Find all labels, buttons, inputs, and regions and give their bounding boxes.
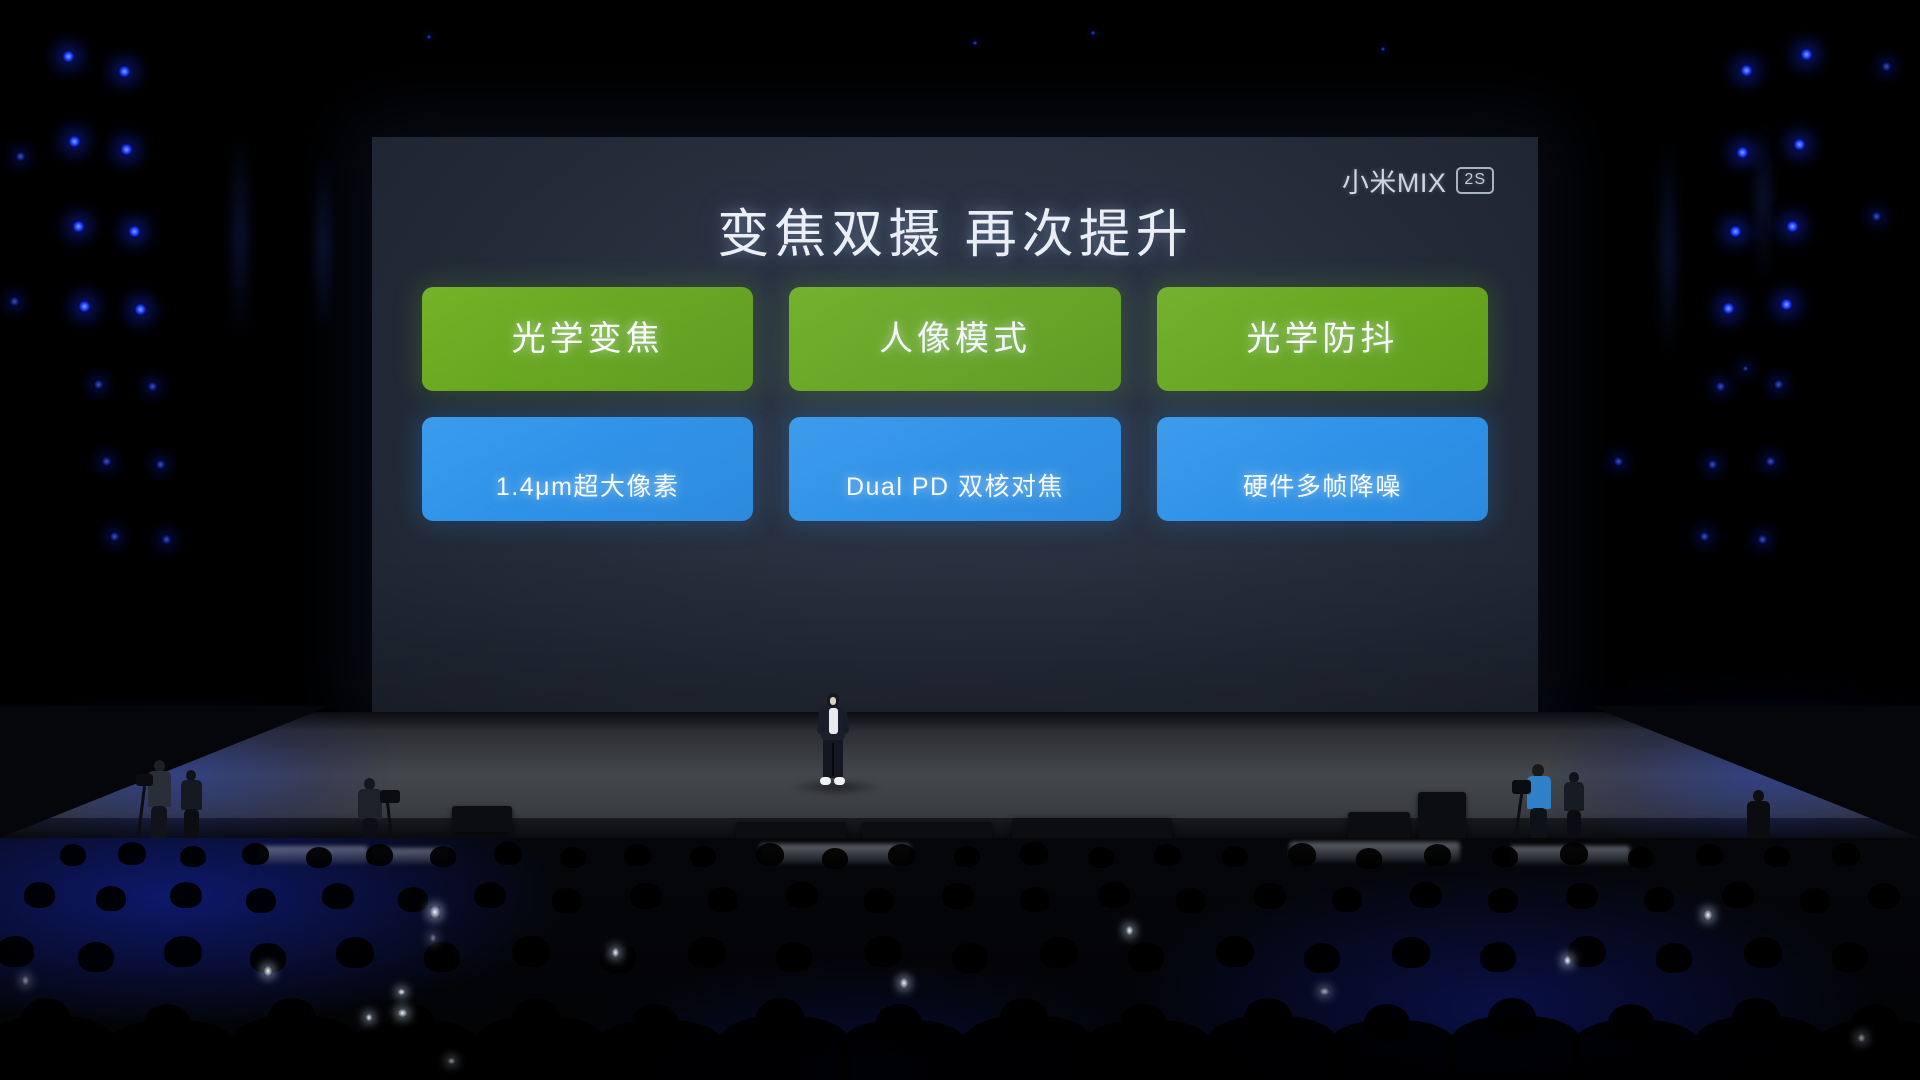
audience-head — [1176, 888, 1206, 913]
audience-head — [560, 847, 586, 868]
audience-head — [78, 942, 114, 972]
audience-head — [630, 883, 662, 909]
stage-led-light — [134, 303, 147, 316]
audience-head — [180, 846, 206, 867]
audience-head — [1480, 942, 1516, 972]
audience-head — [306, 847, 332, 868]
crew-camera-operator-left-2 — [348, 778, 404, 840]
audience-head — [942, 883, 974, 909]
audience-head — [1656, 943, 1692, 973]
audience-head — [1488, 888, 1518, 913]
feature-card-large-pixel: 1.4μm超大像素 — [422, 417, 753, 521]
stage-monitor-wedge — [452, 806, 512, 832]
audience-head — [170, 882, 202, 908]
audience-head — [822, 848, 848, 869]
stage-led-light — [68, 135, 81, 148]
audience-head — [494, 842, 522, 865]
feature-card-optical-zoom: 光学变焦 — [422, 287, 753, 391]
feature-card-label: 光学变焦 — [512, 311, 664, 360]
audience-head — [1020, 842, 1048, 865]
audience-head — [708, 887, 738, 912]
stage-led-light — [1740, 64, 1753, 77]
stage-led-light — [1793, 138, 1806, 151]
stage-led-light — [1780, 298, 1793, 311]
audience-head — [1128, 942, 1164, 972]
audience-head — [144, 1004, 190, 1042]
audience-head — [1410, 882, 1442, 908]
audience-head — [1424, 844, 1451, 866]
stage-led-light — [1881, 61, 1891, 71]
audience-head — [1154, 844, 1181, 866]
stage-led-light — [1699, 531, 1709, 541]
audience-phone-light — [398, 1009, 407, 1017]
audience-head — [1098, 882, 1130, 908]
audience-head — [512, 998, 560, 1038]
audience-head — [624, 844, 651, 866]
audience-phone-light — [264, 966, 272, 976]
stage-led-light — [1871, 211, 1881, 221]
audience-phone-light — [900, 978, 908, 988]
background-column-glow — [1755, 120, 1771, 280]
stage-led-light — [101, 456, 111, 466]
stage-led-light — [109, 531, 119, 541]
feature-card-dual-pd-autofocus: Dual PD 双核对焦 — [789, 417, 1120, 521]
stage-led-light — [15, 151, 25, 161]
feature-card-label: 人像模式 — [879, 311, 1031, 360]
audience-head — [1568, 936, 1606, 967]
feature-card-label: 硬件多帧降噪 — [1243, 467, 1402, 503]
stage-led-light — [72, 220, 85, 233]
background-column-glow — [232, 130, 248, 340]
stage-led-light — [1091, 31, 1096, 36]
audience-head — [1222, 846, 1248, 867]
audience-head — [1000, 998, 1048, 1038]
stage-led-light — [1800, 48, 1813, 61]
audience-head — [876, 1004, 922, 1042]
audience-head — [552, 888, 582, 913]
feature-card-portrait-mode: 人像模式 — [789, 287, 1120, 391]
audience-head — [1332, 887, 1362, 912]
audience-head — [1216, 936, 1254, 967]
audience-head — [1392, 937, 1430, 968]
audience-head — [424, 942, 460, 972]
stage-led-light — [1773, 379, 1783, 389]
crew-figure-right — [1560, 772, 1590, 840]
audience-head — [1088, 847, 1114, 868]
stage-led-light — [1786, 220, 1799, 233]
audience-head — [864, 888, 894, 913]
audience-phone-light — [22, 976, 29, 985]
audience-head — [1040, 937, 1078, 968]
stage-led-light — [161, 534, 171, 544]
audience-head — [336, 937, 374, 968]
audience-head — [96, 886, 126, 911]
audience-head — [1696, 844, 1723, 866]
stage-led-light — [155, 459, 165, 469]
audience-head — [1304, 943, 1340, 973]
audience-head — [776, 942, 812, 972]
audience-head — [690, 846, 716, 867]
audience-head — [512, 936, 550, 967]
audience-phone-light — [1126, 926, 1133, 935]
audience-phone-light — [1704, 910, 1712, 920]
audience-head — [164, 936, 202, 967]
venue-scene: 小米MIX 2S 变焦双摄 再次提升 光学变焦 人像模式 光学防抖 1.4μm超… — [0, 0, 1920, 1080]
audience-head — [268, 998, 316, 1038]
audience-phone-light — [1858, 1034, 1865, 1042]
stage-led-light — [120, 143, 133, 156]
audience-head — [22, 998, 70, 1038]
stage-led-light — [62, 50, 75, 63]
audience-head — [1244, 998, 1292, 1038]
audience-head — [1566, 883, 1598, 909]
stage-led-light — [1381, 47, 1386, 52]
presentation-screen: 小米MIX 2S 变焦双摄 再次提升 光学变焦 人像模式 光学防抖 1.4μm超… — [372, 137, 1538, 712]
stage-led-light — [1729, 225, 1742, 238]
background-column-glow — [315, 150, 331, 340]
audience-head — [0, 936, 34, 967]
stage-led-light — [118, 65, 131, 78]
stage-led-light — [93, 379, 103, 389]
stage-led-light — [1757, 534, 1767, 544]
stage-led-light — [1613, 456, 1623, 466]
audience-head — [1120, 1004, 1166, 1042]
audience-head — [952, 943, 988, 973]
audience-head — [242, 843, 269, 865]
feature-card-grid: 光学变焦 人像模式 光学防抖 1.4μm超大像素 Dual PD 双核对焦 硬件… — [422, 287, 1488, 521]
audience-head — [1288, 843, 1316, 866]
audience-head — [756, 843, 784, 866]
audience-head — [474, 882, 506, 908]
feature-card-label: 1.4μm超大像素 — [496, 467, 679, 503]
feature-card-label: Dual PD 双核对焦 — [846, 467, 1064, 503]
audience-head — [954, 846, 980, 867]
audience-phone-light — [612, 948, 619, 957]
crew-figure-left — [176, 770, 210, 840]
audience-head — [1732, 998, 1780, 1038]
audience-head — [118, 842, 146, 865]
stage-led-light — [973, 41, 978, 46]
stage-led-light — [9, 296, 19, 306]
generation-badge: 2S — [1456, 167, 1494, 194]
audience-head — [366, 844, 393, 866]
audience-head — [1800, 888, 1830, 913]
audience-head — [1492, 846, 1518, 867]
audience-head — [1488, 998, 1536, 1038]
presenter-figure — [816, 693, 850, 788]
stage-led-light — [78, 300, 91, 313]
audience-head — [388, 1004, 434, 1042]
feature-card-multiframe-noise-reduction: 硬件多帧降噪 — [1157, 417, 1488, 521]
stage-led-light — [1736, 146, 1749, 159]
audience-head — [1356, 848, 1382, 869]
stage-road-case — [1418, 792, 1466, 842]
stage-led-light — [147, 381, 157, 391]
audience-head — [1744, 937, 1782, 968]
audience-head — [246, 888, 276, 913]
audience-area — [0, 838, 1920, 1080]
stage-led-light — [128, 225, 141, 238]
feature-card-optical-stabilization: 光学防抖 — [1157, 287, 1488, 391]
audience-head — [1364, 1004, 1410, 1042]
audience-head — [888, 844, 915, 866]
audience-head — [756, 998, 804, 1038]
audience-head — [1722, 882, 1754, 908]
slide-headline: 变焦双摄 再次提升 — [372, 192, 1538, 267]
audience-head — [632, 1004, 678, 1042]
audience-head — [24, 882, 55, 908]
audience-head — [1628, 847, 1654, 868]
audience-phone-light — [398, 989, 405, 995]
audience-head — [430, 846, 456, 867]
audience-head — [864, 936, 902, 967]
audience-head — [398, 887, 428, 912]
audience-head — [1560, 842, 1588, 865]
stage-led-light — [1715, 381, 1725, 391]
audience-head — [1254, 883, 1286, 909]
audience-head — [60, 844, 86, 866]
audience-head — [1644, 887, 1674, 912]
feature-card-label: 光学防抖 — [1246, 311, 1398, 360]
audience-head — [786, 882, 818, 908]
audience-phone-light — [366, 1014, 372, 1021]
background-column-glow — [1660, 140, 1676, 360]
stage-led-light — [1743, 366, 1749, 372]
audience-phone-light — [430, 934, 436, 942]
audience-phone-light — [430, 906, 440, 918]
audience-head — [1764, 846, 1790, 867]
audience-head — [1608, 1004, 1654, 1042]
stage-led-light — [1722, 302, 1735, 315]
crew-figure-far-right — [1740, 790, 1780, 840]
stage-led-light — [427, 35, 432, 40]
audience-head — [322, 883, 354, 909]
audience-head — [1832, 942, 1868, 972]
stage-led-light — [1765, 456, 1775, 466]
audience-phone-light — [1564, 956, 1571, 965]
audience-head — [1832, 843, 1860, 866]
audience-phone-light — [448, 1058, 455, 1064]
stage-led-light — [1707, 459, 1717, 469]
audience-head — [688, 937, 726, 968]
audience-head — [1020, 887, 1050, 912]
audience-phone-light — [1320, 988, 1329, 995]
audience-head — [1868, 883, 1900, 909]
